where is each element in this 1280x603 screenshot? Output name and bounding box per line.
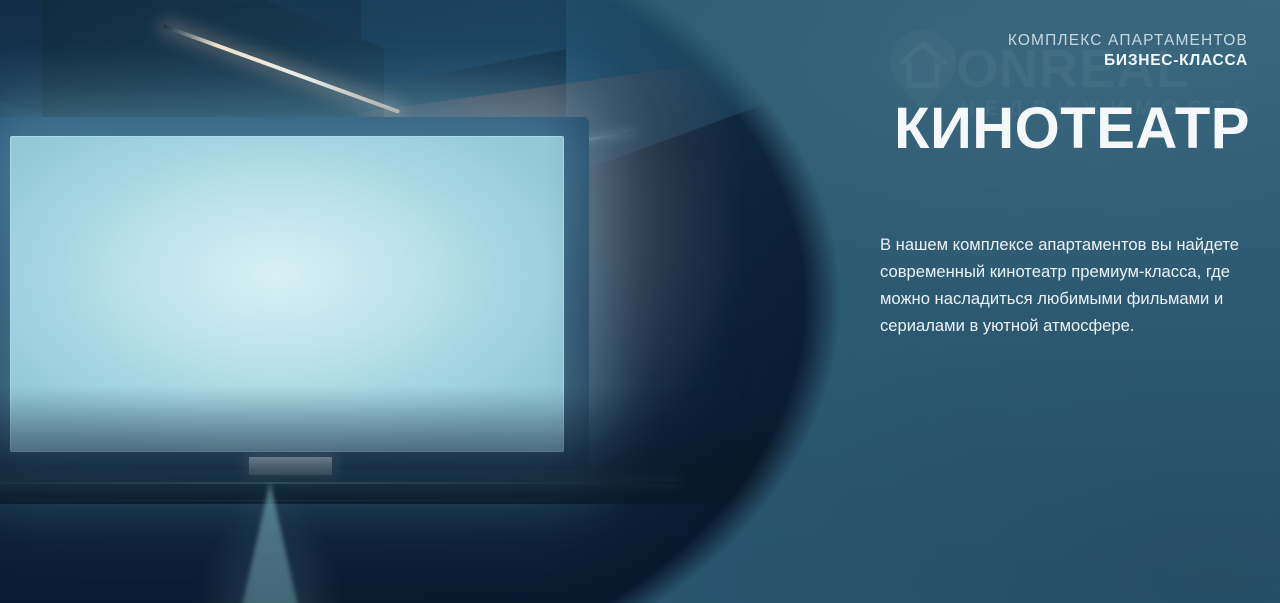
cinema-photo bbox=[0, 0, 840, 603]
eyebrow-line-2: БИЗНЕС-КЛАССА bbox=[1008, 51, 1248, 71]
description-text: В нашем комплексе апартаментов вы найдет… bbox=[880, 232, 1252, 340]
promo-slide: ONREAL НЕДВИЖИМОСТЬ КОМПЛЕКС АПАРТАМЕНТО… bbox=[0, 0, 1280, 603]
seat-row-host bbox=[0, 436, 840, 603]
page-title: КИНОТЕАТР bbox=[894, 100, 1250, 158]
eyebrow: КОМПЛЕКС АПАРТАМЕНТОВ БИЗНЕС-КЛАССА bbox=[1008, 31, 1248, 71]
eyebrow-line-1: КОМПЛЕКС АПАРТАМЕНТОВ bbox=[1008, 31, 1248, 51]
seat-rows bbox=[0, 436, 840, 603]
cinema-photo-scene bbox=[0, 0, 840, 603]
